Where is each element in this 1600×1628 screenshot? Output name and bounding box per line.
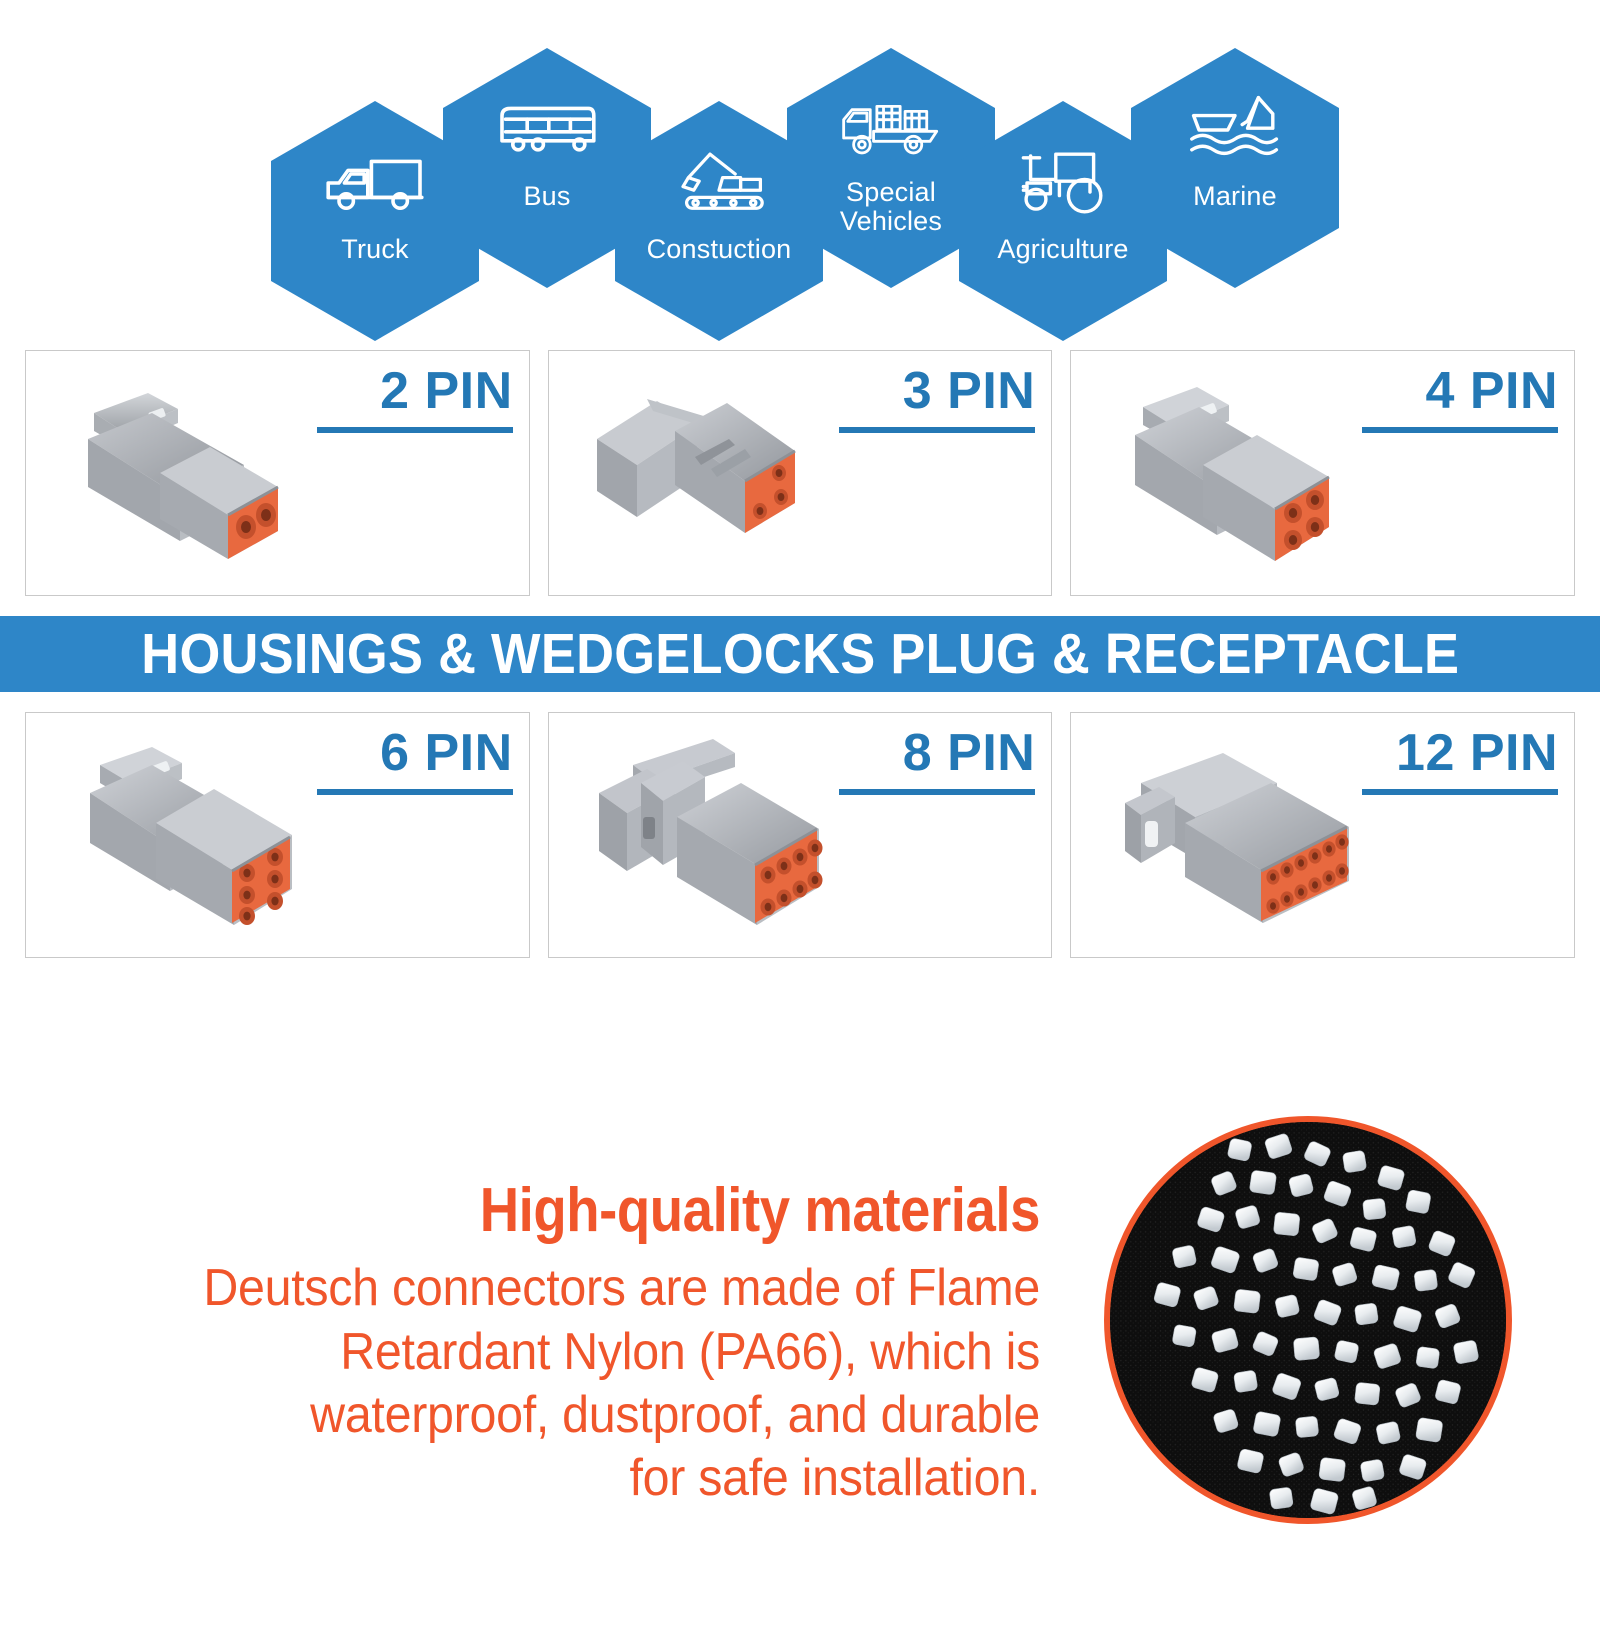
pin-label-wrap-6-pin: 6 PIN bbox=[317, 727, 513, 795]
hex-label-truck: Truck bbox=[280, 235, 470, 264]
pin-label-underline bbox=[1362, 427, 1558, 433]
pin-label-underline bbox=[317, 427, 513, 433]
pin-label-underline bbox=[317, 789, 513, 795]
connector-card-12-pin[interactable]: 12 PIN bbox=[1070, 712, 1575, 958]
hex-label-line2: Vehicles bbox=[840, 206, 942, 236]
pin-label-wrap-12-pin: 12 PIN bbox=[1362, 727, 1558, 795]
hex-label-special-vehicles: Special Vehicles bbox=[796, 178, 986, 236]
materials-heading: High-quality materials bbox=[230, 1178, 1040, 1243]
hex-label-bus: Bus bbox=[452, 182, 642, 211]
materials-copy: High-quality materials Deutsch connector… bbox=[120, 1178, 1040, 1511]
materials-body: Deutsch connectors are made of Flame Ret… bbox=[184, 1257, 1040, 1511]
pin-label-wrap-8-pin: 8 PIN bbox=[839, 727, 1035, 795]
truck-icon bbox=[321, 137, 429, 229]
connector-card-4-pin[interactable]: 4 PIN bbox=[1070, 350, 1575, 596]
excavator-icon bbox=[665, 137, 773, 229]
pin-label-12-pin: 12 PIN bbox=[1362, 727, 1558, 779]
tractor-icon bbox=[1009, 137, 1117, 229]
boat-icon bbox=[1181, 84, 1289, 176]
pin-label-underline bbox=[839, 789, 1035, 795]
connector-card-2-pin[interactable]: 2 PIN bbox=[25, 350, 530, 596]
connector-card-8-pin[interactable]: 8 PIN bbox=[548, 712, 1053, 958]
pin-label-4-pin: 4 PIN bbox=[1362, 365, 1558, 417]
bus-icon bbox=[493, 84, 601, 176]
dump-truck-icon bbox=[837, 84, 945, 172]
materials-body-line-1: Deutsch connectors are made of Flame bbox=[184, 1257, 1040, 1320]
pin-label-6-pin: 6 PIN bbox=[317, 727, 513, 779]
pin-label-8-pin: 8 PIN bbox=[839, 727, 1035, 779]
pin-label-underline bbox=[839, 427, 1035, 433]
connector-card-row-1: 2 PIN bbox=[0, 350, 1600, 596]
connector-card-3-pin[interactable]: 3 PIN bbox=[548, 350, 1053, 596]
pin-label-underline bbox=[1362, 789, 1558, 795]
hex-label-agriculture: Agriculture bbox=[968, 235, 1158, 264]
pin-label-3-pin: 3 PIN bbox=[839, 365, 1035, 417]
materials-body-line-3: waterproof, dustproof, and durable bbox=[184, 1384, 1040, 1447]
connector-card-row-2: 6 PIN bbox=[0, 712, 1600, 958]
pin-label-wrap-4-pin: 4 PIN bbox=[1362, 365, 1558, 433]
pin-label-wrap-3-pin: 3 PIN bbox=[839, 365, 1035, 433]
materials-body-line-2: Retardant Nylon (PA66), which is bbox=[184, 1321, 1040, 1384]
materials-body-line-4: for safe installation. bbox=[184, 1447, 1040, 1510]
section-banner: HOUSINGS & WEDGELOCKS PLUG & RECEPTACLE bbox=[0, 616, 1600, 692]
connector-card-6-pin[interactable]: 6 PIN bbox=[25, 712, 530, 958]
materials-section: High-quality materials Deutsch connector… bbox=[0, 1108, 1600, 1628]
pin-label-wrap-2-pin: 2 PIN bbox=[317, 365, 513, 433]
hex-label-marine: Marine bbox=[1140, 182, 1330, 211]
hex-label-line1: Special bbox=[846, 177, 936, 207]
applications-hexagon-row: Truck Bus bbox=[0, 0, 1600, 350]
nylon-pellets-photo bbox=[1104, 1116, 1512, 1524]
hex-label-construction: Constuction bbox=[624, 235, 814, 264]
pin-label-2-pin: 2 PIN bbox=[317, 365, 513, 417]
banner-title: HOUSINGS & WEDGELOCKS PLUG & RECEPTACLE bbox=[141, 621, 1459, 687]
